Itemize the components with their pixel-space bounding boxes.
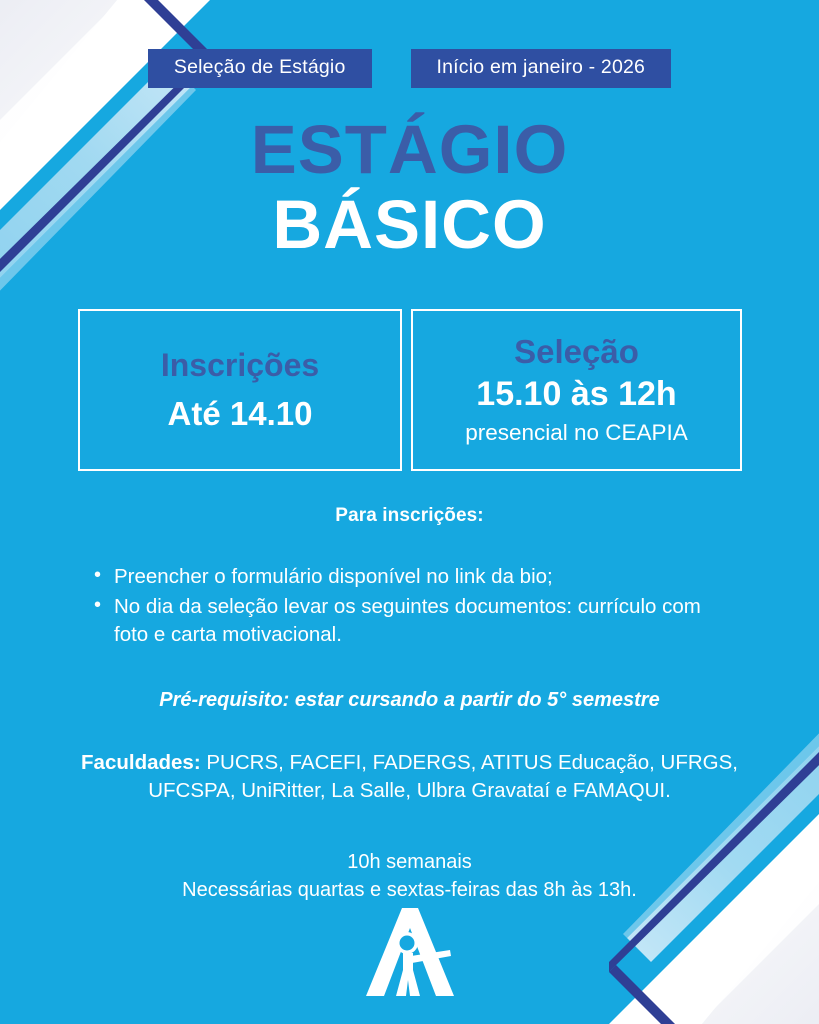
title-line-estagio: ESTÁGIO <box>0 113 819 188</box>
faculties-text: Faculdades: PUCRS, FACEFI, FADERGS, ATIT… <box>40 749 779 806</box>
info-box-inscricoes-heading: Inscrições <box>161 347 319 384</box>
poster-canvas: Seleção de Estágio Início em janeiro - 2… <box>0 0 819 1024</box>
page-title: ESTÁGIO BÁSICO <box>0 113 819 262</box>
weekly-hours-line2: Necessárias quartas e sextas-feiras das … <box>182 879 637 901</box>
faculties-list: PUCRS, FACEFI, FADERGS, ATITUS Educação,… <box>148 751 738 802</box>
info-box-inscricoes: Inscrições Até 14.10 <box>78 309 402 471</box>
badge-row: Seleção de Estágio Início em janeiro - 2… <box>0 49 819 88</box>
list-item: Preencher o formulário disponível no lin… <box>94 563 739 591</box>
weekly-hours-text: 10h semanaisNecessárias quartas e sextas… <box>0 848 819 904</box>
badge-inicio-janeiro: Início em janeiro - 2026 <box>411 49 672 88</box>
info-box-selecao-heading: Seleção <box>514 333 639 371</box>
ceapia-logo <box>362 908 458 996</box>
info-box-selecao-location: presencial no CEAPIA <box>465 419 688 447</box>
info-box-row: Inscrições Até 14.10 Seleção 15.10 às 12… <box>78 309 742 471</box>
list-item: No dia da seleção levar os seguintes doc… <box>94 593 739 649</box>
faculties-label: Faculdades: <box>81 751 201 774</box>
weekly-hours-line1: 10h semanais <box>347 851 472 873</box>
badge-selecao-estagio: Seleção de Estágio <box>148 49 372 88</box>
requirements-list: Preencher o formulário disponível no lin… <box>0 563 819 649</box>
info-box-selecao-datetime: 15.10 às 12h <box>476 375 676 414</box>
body-copy: Para inscrições: Preencher o formulário … <box>0 505 819 904</box>
info-box-selecao: Seleção 15.10 às 12h presencial no CEAPI… <box>411 309 742 471</box>
prerequisite-text: Pré-requisito: estar cursando a partir d… <box>0 689 819 712</box>
info-box-inscricoes-date: Até 14.10 <box>168 395 313 433</box>
title-line-basico: BÁSICO <box>0 188 819 263</box>
body-lead: Para inscrições: <box>0 505 819 527</box>
